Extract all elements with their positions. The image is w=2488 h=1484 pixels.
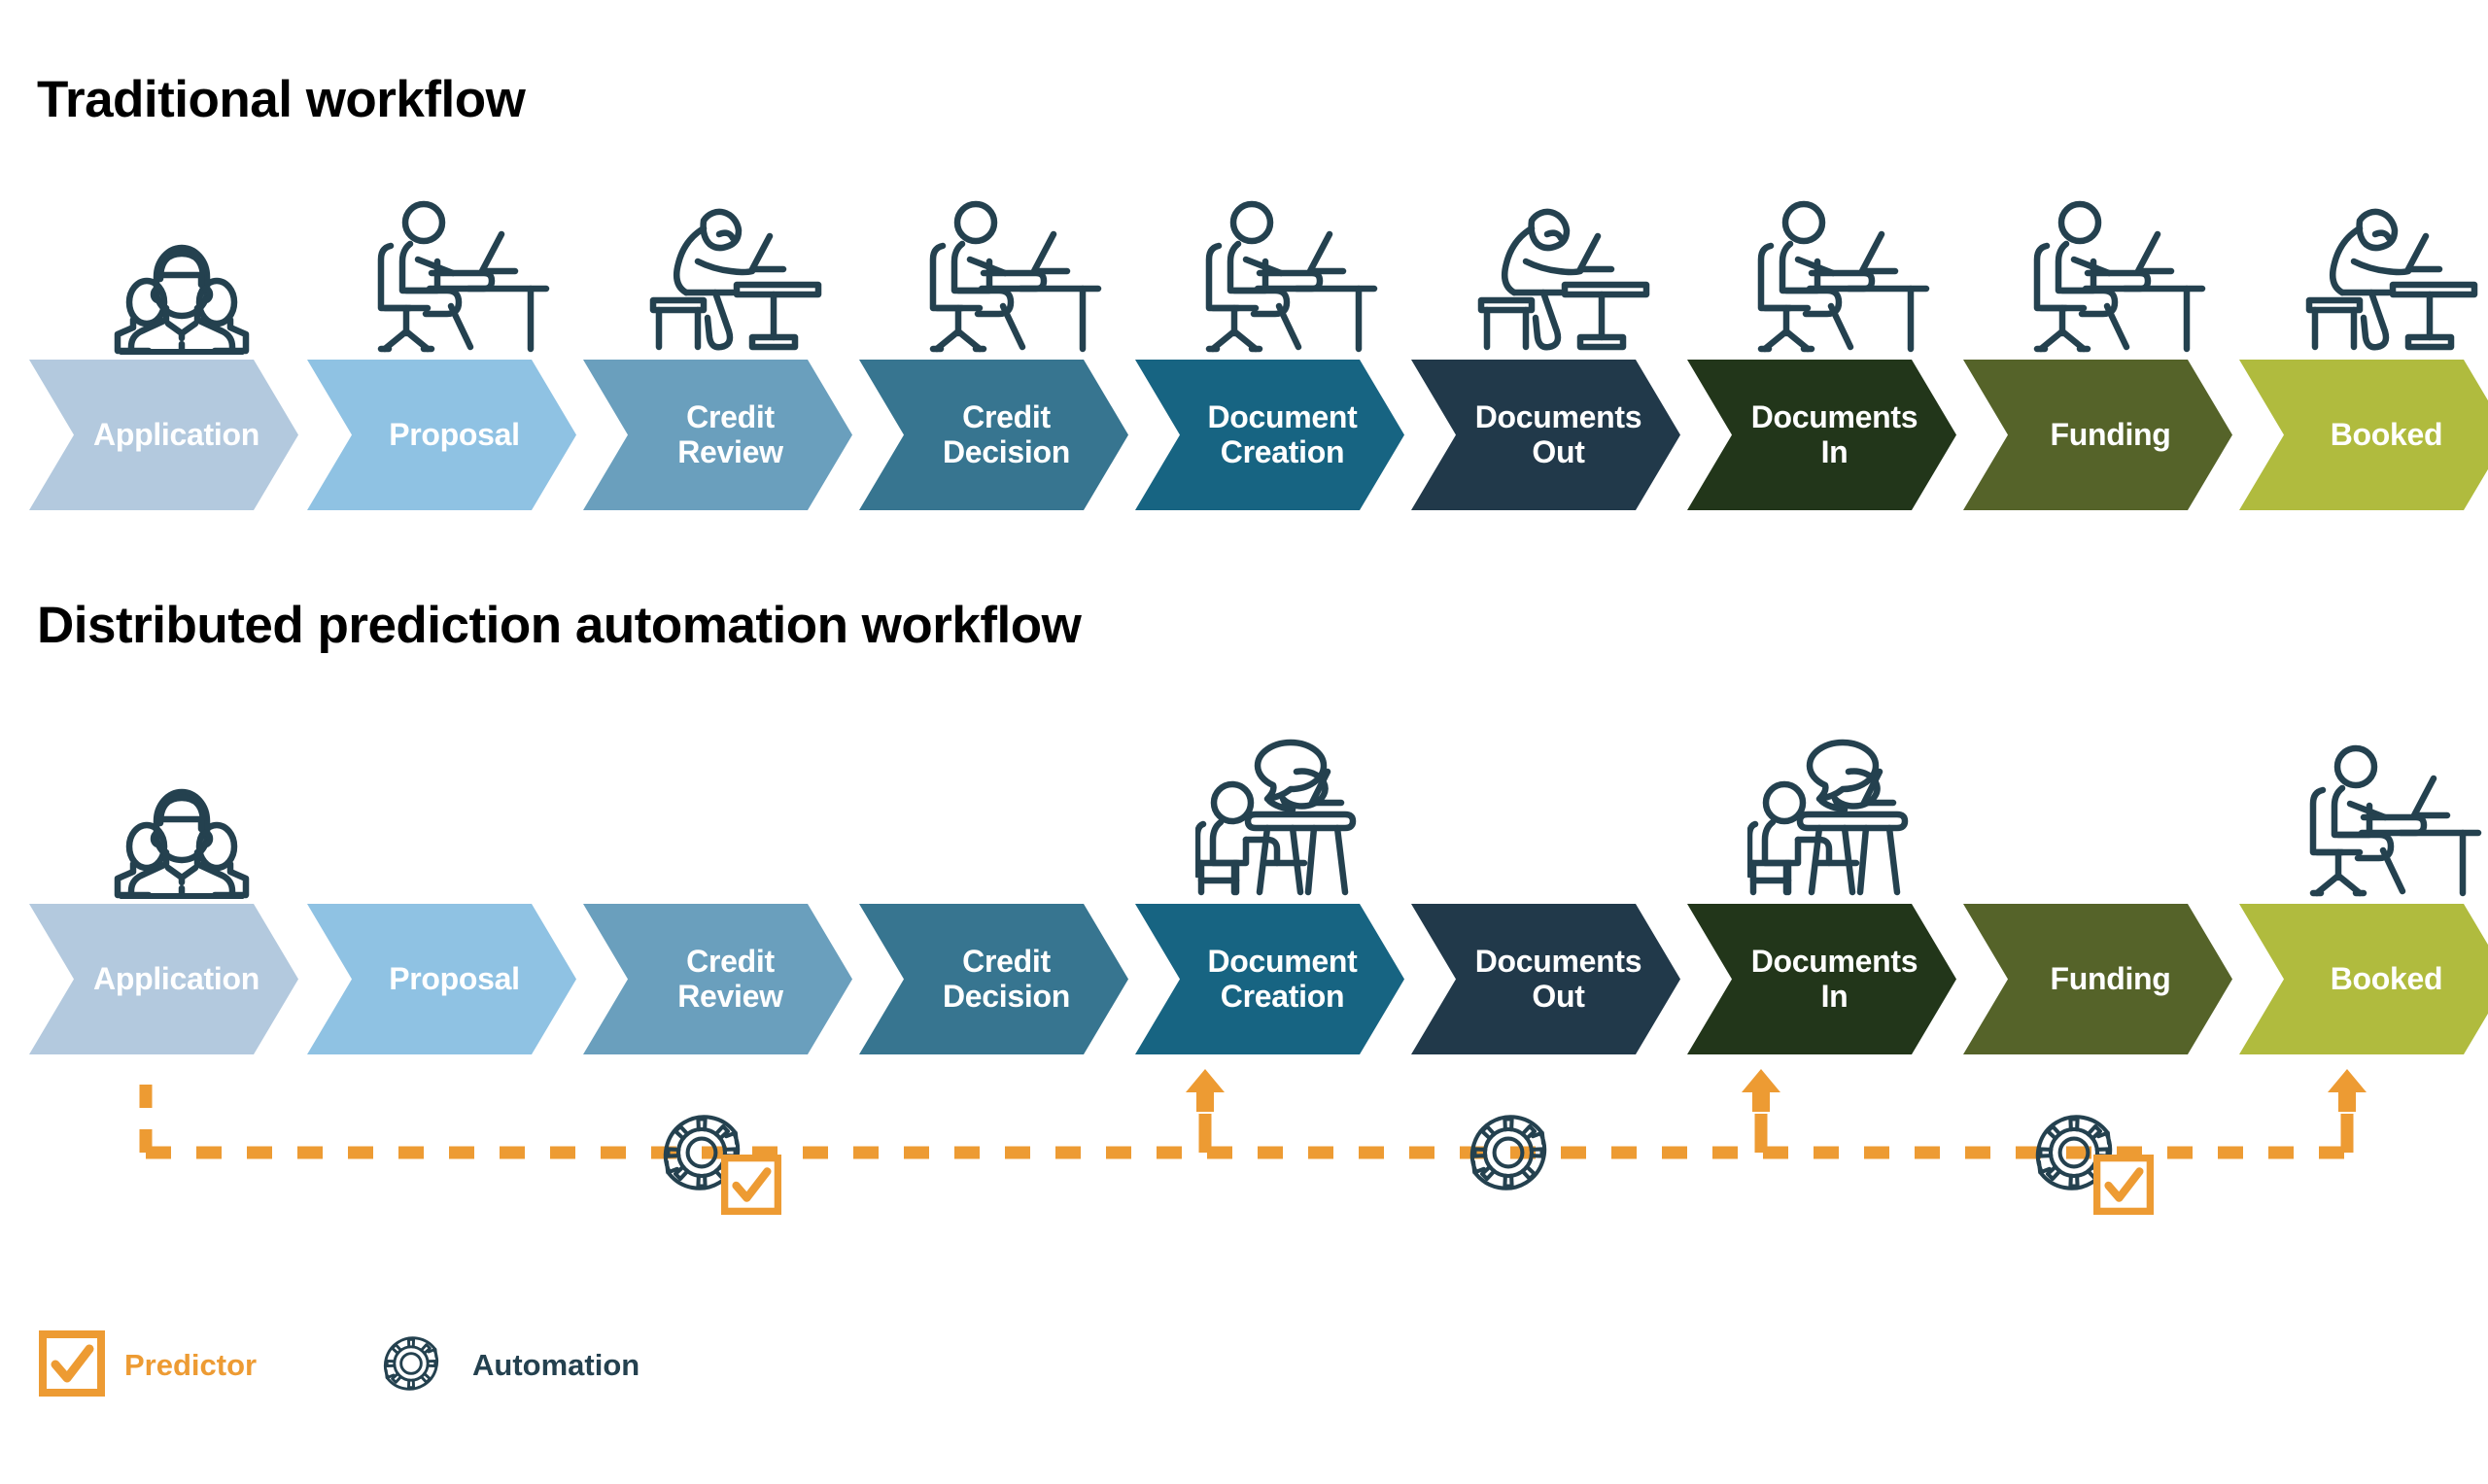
stage-chevron[interactable]: Booked	[2239, 904, 2488, 1054]
person-desk-chair-icon	[2265, 729, 2488, 899]
legend-item-predictor: Predictor	[39, 1324, 257, 1407]
distributed-chevron-band: ApplicationProposalCredit ReviewCredit D…	[0, 904, 2488, 1054]
stage-chevron[interactable]: Application	[29, 904, 298, 1054]
stage-label: Document Creation	[1182, 400, 1357, 470]
stage-label: Documents Out	[1450, 945, 1642, 1015]
stage-label: Proposal	[363, 962, 520, 997]
distributed-workflow-title: Distributed prediction automation workfl…	[37, 596, 1081, 655]
stage-chevron[interactable]: Documents Out	[1411, 904, 1680, 1054]
person-desk-chair-icon	[1989, 185, 2242, 355]
stage-chevron[interactable]: Credit Review	[583, 904, 852, 1054]
person-stool-table-icon	[1437, 185, 1690, 355]
person-table-speech-icon	[1161, 729, 1414, 899]
stage-chevron[interactable]: Documents In	[1687, 360, 1956, 510]
person-stool-table-icon	[2265, 185, 2488, 355]
stage-label: Funding	[2024, 418, 2170, 453]
predictor-checkbox-icon	[39, 1330, 105, 1401]
stage-label: Proposal	[363, 418, 520, 453]
stage-chevron[interactable]: Booked	[2239, 360, 2488, 510]
stage-label: Documents In	[1726, 945, 1918, 1015]
workflow-diagram: Traditional workflow ApplicationProposal…	[0, 0, 2488, 1484]
stage-label: Credit Decision	[917, 945, 1070, 1015]
traditional-workflow-title: Traditional workflow	[37, 70, 525, 129]
stage-label: Funding	[2024, 962, 2170, 997]
stage-chevron[interactable]: Documents Out	[1411, 360, 1680, 510]
predictor-checkbox-icon[interactable]	[2093, 1155, 2154, 1220]
traditional-icon-row	[0, 185, 2488, 355]
stage-chevron[interactable]: Proposal	[307, 360, 576, 510]
automation-gear-icon	[369, 1322, 453, 1410]
stage-label: Application	[68, 418, 259, 453]
stage-chevron[interactable]: Credit Decision	[859, 360, 1128, 510]
person-desk-chair-icon	[885, 185, 1138, 355]
automation-gear-icon	[1450, 1094, 1567, 1216]
legend-predictor-label: Predictor	[124, 1348, 257, 1383]
stage-chevron[interactable]: Funding	[1963, 904, 2232, 1054]
traditional-chevron-band: ApplicationProposalCredit ReviewCredit D…	[0, 360, 2488, 510]
person-desk-chair-icon	[1161, 185, 1414, 355]
automation-documents-out[interactable]	[1448, 1092, 1569, 1213]
stage-label: Credit Review	[652, 945, 782, 1015]
stage-chevron[interactable]: Document Creation	[1135, 360, 1404, 510]
stage-chevron[interactable]: Proposal	[307, 904, 576, 1054]
person-desk-chair-icon	[1713, 185, 1966, 355]
stage-label: Booked	[2305, 962, 2443, 997]
people-group-icon	[55, 185, 308, 355]
stage-label: Booked	[2305, 418, 2443, 453]
stage-chevron[interactable]: Credit Review	[583, 360, 852, 510]
legend-item-automation: Automation	[369, 1324, 639, 1407]
stage-label: Documents In	[1726, 400, 1918, 470]
stage-chevron[interactable]: Document Creation	[1135, 904, 1404, 1054]
legend-automation-label: Automation	[472, 1348, 639, 1383]
stage-chevron[interactable]: Credit Decision	[859, 904, 1128, 1054]
people-group-icon	[55, 729, 308, 899]
stage-label: Application	[68, 962, 259, 997]
automation-credit-review[interactable]	[641, 1092, 762, 1213]
distributed-icon-row	[0, 729, 2488, 899]
stage-label: Credit Decision	[917, 400, 1070, 470]
stage-chevron[interactable]: Funding	[1963, 360, 2232, 510]
person-desk-chair-icon	[333, 185, 586, 355]
stage-label: Document Creation	[1182, 945, 1357, 1015]
stage-label: Documents Out	[1450, 400, 1642, 470]
automation-funding[interactable]	[2014, 1092, 2134, 1213]
predictor-checkbox-icon[interactable]	[721, 1155, 781, 1220]
stage-chevron[interactable]: Documents In	[1687, 904, 1956, 1054]
stage-label: Credit Review	[652, 400, 782, 470]
person-table-speech-icon	[1713, 729, 1966, 899]
stage-chevron[interactable]: Application	[29, 360, 298, 510]
person-stool-table-icon	[609, 185, 862, 355]
